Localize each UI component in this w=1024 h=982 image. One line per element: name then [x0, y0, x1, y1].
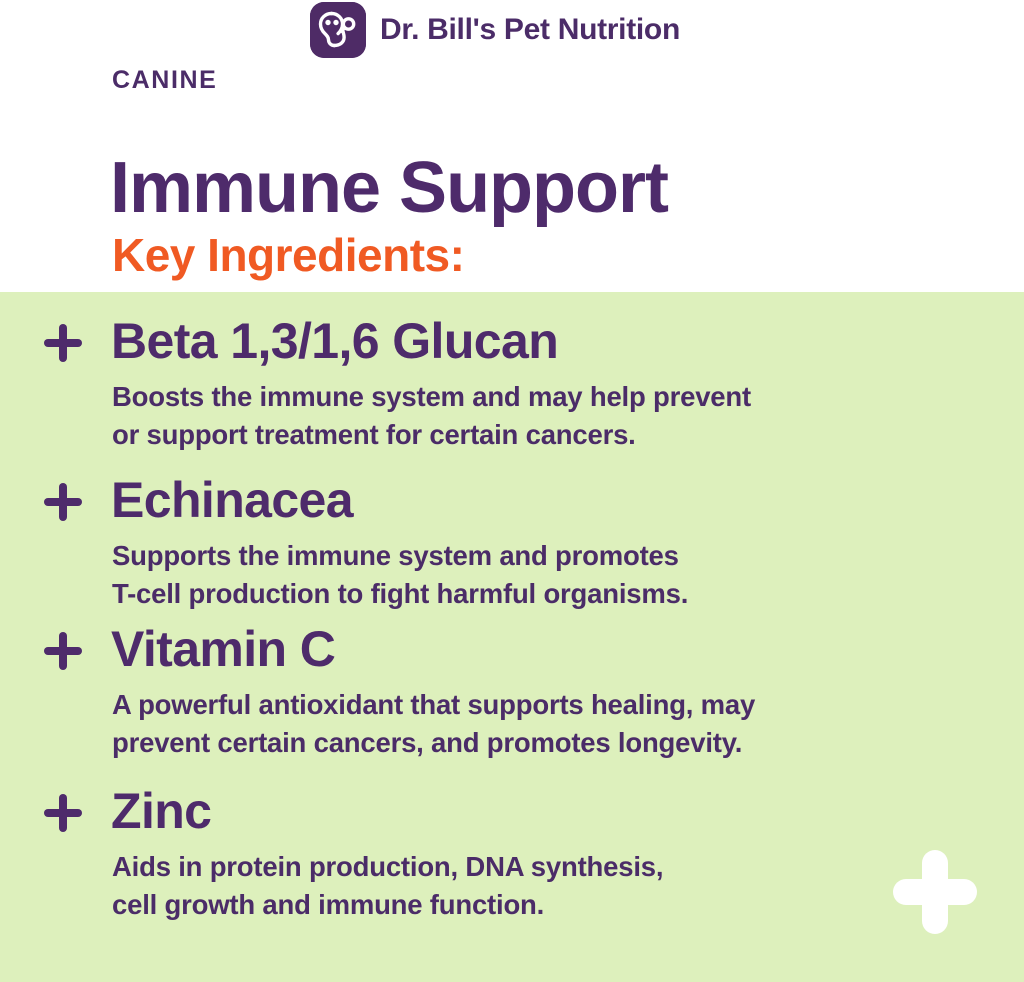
- page-title: Immune Support: [110, 152, 668, 224]
- brand-lockup: Dr. Bill's Pet Nutrition: [310, 2, 680, 58]
- plus-icon: [44, 794, 84, 834]
- eyebrow-label: CANINE: [112, 68, 217, 93]
- ingredient-description: A powerful antioxidant that supports hea…: [112, 686, 755, 762]
- header-section: Dr. Bill's Pet Nutrition CANINE Immune S…: [0, 0, 1024, 292]
- ingredient-description: Boosts the immune system and may help pr…: [112, 378, 751, 454]
- plus-icon: [44, 483, 84, 523]
- ingredient-name: Vitamin C: [111, 622, 335, 676]
- immune-support-infographic: Dr. Bill's Pet Nutrition CANINE Immune S…: [0, 0, 1024, 982]
- brand-name: Dr. Bill's Pet Nutrition: [380, 15, 680, 45]
- ingredient-description: Aids in protein production, DNA synthesi…: [112, 848, 663, 924]
- ingredient-name: Beta 1,3/1,6 Glucan: [111, 314, 558, 368]
- ingredients-panel: Beta 1,3/1,6 Glucan Boosts the immune sy…: [0, 292, 1024, 982]
- plus-icon: [44, 324, 84, 364]
- decorative-plus-icon: [893, 850, 977, 934]
- ingredient-name: Echinacea: [111, 473, 353, 527]
- plus-icon: [44, 632, 84, 672]
- stethoscope-pet-face-icon: [310, 2, 366, 58]
- ingredient-name: Zinc: [111, 784, 211, 838]
- page-subtitle: Key Ingredients:: [112, 232, 464, 278]
- ingredient-description: Supports the immune system and promotes …: [112, 537, 688, 613]
